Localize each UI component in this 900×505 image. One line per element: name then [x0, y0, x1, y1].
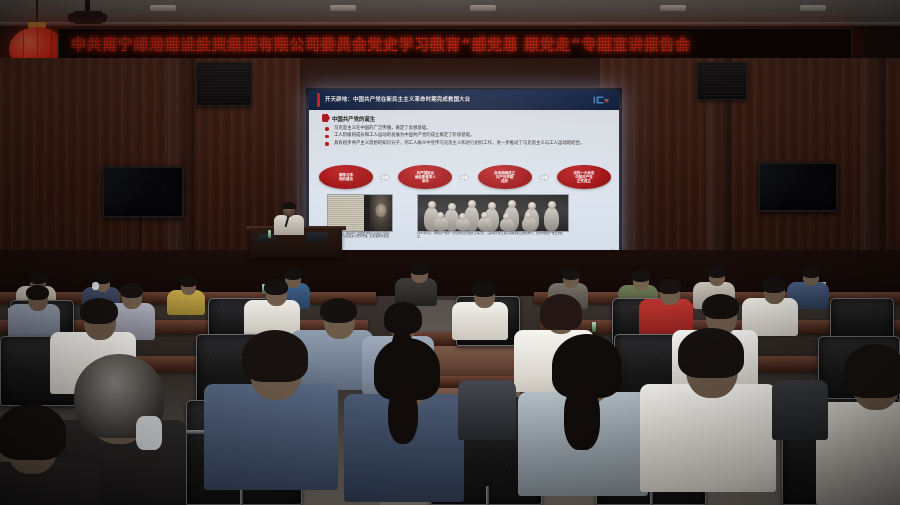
led-banner-text: 中共南宁绿港建设投资集团有限公司委员会党史学习教育“感党恩 跟党走”专题宣讲报告… [71, 34, 691, 55]
ceiling-light [660, 5, 686, 11]
slide-bullet-text: 马克思主义在中国的广泛传播，奠定了思想基础。 [334, 126, 431, 131]
ceiling-light [470, 5, 496, 11]
ceiling-speaker-right [697, 62, 747, 100]
slide-title: 开天辟地：中国共产党在新民主主义革命时期完成救国大业 [325, 95, 470, 103]
company-logo-icon [592, 94, 612, 106]
projected-slide: 开天辟地：中国共产党在新民主主义革命时期完成救国大业 中国共产党的诞生 马克思主… [309, 90, 619, 258]
slide-flow-diagram: 南陈北李 相约建党 共产国际派 维经斯基等人 来华 各地相继成立 共产党早期 组… [319, 164, 611, 190]
lantern-cord [36, 0, 38, 24]
ceiling-light [150, 5, 176, 11]
bullet-dot-icon [325, 142, 329, 146]
slide-photo-group: 1919年10月，《新青年》出版社刊载马克思主义研究专号，公开了马克思主义研究学… [321, 194, 609, 240]
wall-display-right [758, 162, 838, 212]
ceiling-speaker-left [196, 62, 252, 106]
arrow-right-icon [539, 173, 550, 182]
podium-monitor [258, 234, 274, 242]
led-banner-screen: 中共南宁绿港建设投资集团有限公司委员会党史学习教育“感党恩 跟党走”专题宣讲报告… [61, 31, 849, 57]
slide-bullet-text: 具有初步共产主义思想的知识分子，到工人群众中宣传马克思主义和进行组织工作，进一步… [334, 141, 584, 146]
historical-photo-right [417, 194, 569, 232]
flow-step: 共产国际派 维经斯基等人 来华 [398, 165, 452, 189]
ceiling-seam [0, 22, 900, 25]
wall-display-left [102, 166, 184, 218]
bullet-dot-icon [325, 127, 329, 131]
flow-step: 各地相继成立 共产党早期 组织 [478, 165, 532, 189]
chair-leg [486, 486, 489, 505]
slide-heading-marker [322, 114, 330, 122]
slide-bullet-list: 马克思主义在中国的广泛传播，奠定了思想基础。 工人阶级的成长和工人运动的发展为中… [325, 126, 609, 148]
photo-caption-right: 1921年7月，中国共产党第一次全国代表大会在上海召开，后转移至浙江嘉兴南湖游船… [417, 232, 567, 239]
slide-bullet-text: 工人阶级的成长和工人运动的发展为中国共产党的成立奠定了阶级基础。 [334, 133, 475, 138]
slide-bullet: 工人阶级的成长和工人运动的发展为中国共产党的成立奠定了阶级基础。 [325, 133, 609, 138]
ceiling-light [800, 5, 826, 11]
slide-bullet: 马克思主义在中国的广泛传播，奠定了思想基础。 [325, 126, 609, 131]
presenter [274, 203, 304, 233]
presenter-laptop [306, 232, 328, 242]
led-banner: 中共南宁绿港建设投资集团有限公司委员会党史学习教育“感党恩 跟党走”专题宣讲报告… [58, 28, 852, 60]
slide-header-accent [317, 93, 320, 107]
arrow-right-icon [380, 173, 391, 182]
bullet-dot-icon [325, 135, 329, 139]
slide-heading: 中国共产党的诞生 [332, 115, 375, 123]
flow-step: 南陈北李 相约建党 [319, 165, 373, 189]
presenter-water-bottle [268, 230, 271, 238]
ceiling-light [330, 5, 356, 11]
conference-hall-photo: 中共南宁绿港建设投资集团有限公司委员会党史学习教育“感党恩 跟党走”专题宣讲报告… [0, 0, 900, 505]
arrow-right-icon [459, 173, 470, 182]
water-bottle [592, 322, 596, 332]
flow-step: 党的一大标志 中国共产党 正式成立 [557, 165, 611, 189]
slide-bullet: 具有初步共产主义思想的知识分子，到工人群众中宣传马克思主义和进行组织工作，进一步… [325, 141, 609, 146]
